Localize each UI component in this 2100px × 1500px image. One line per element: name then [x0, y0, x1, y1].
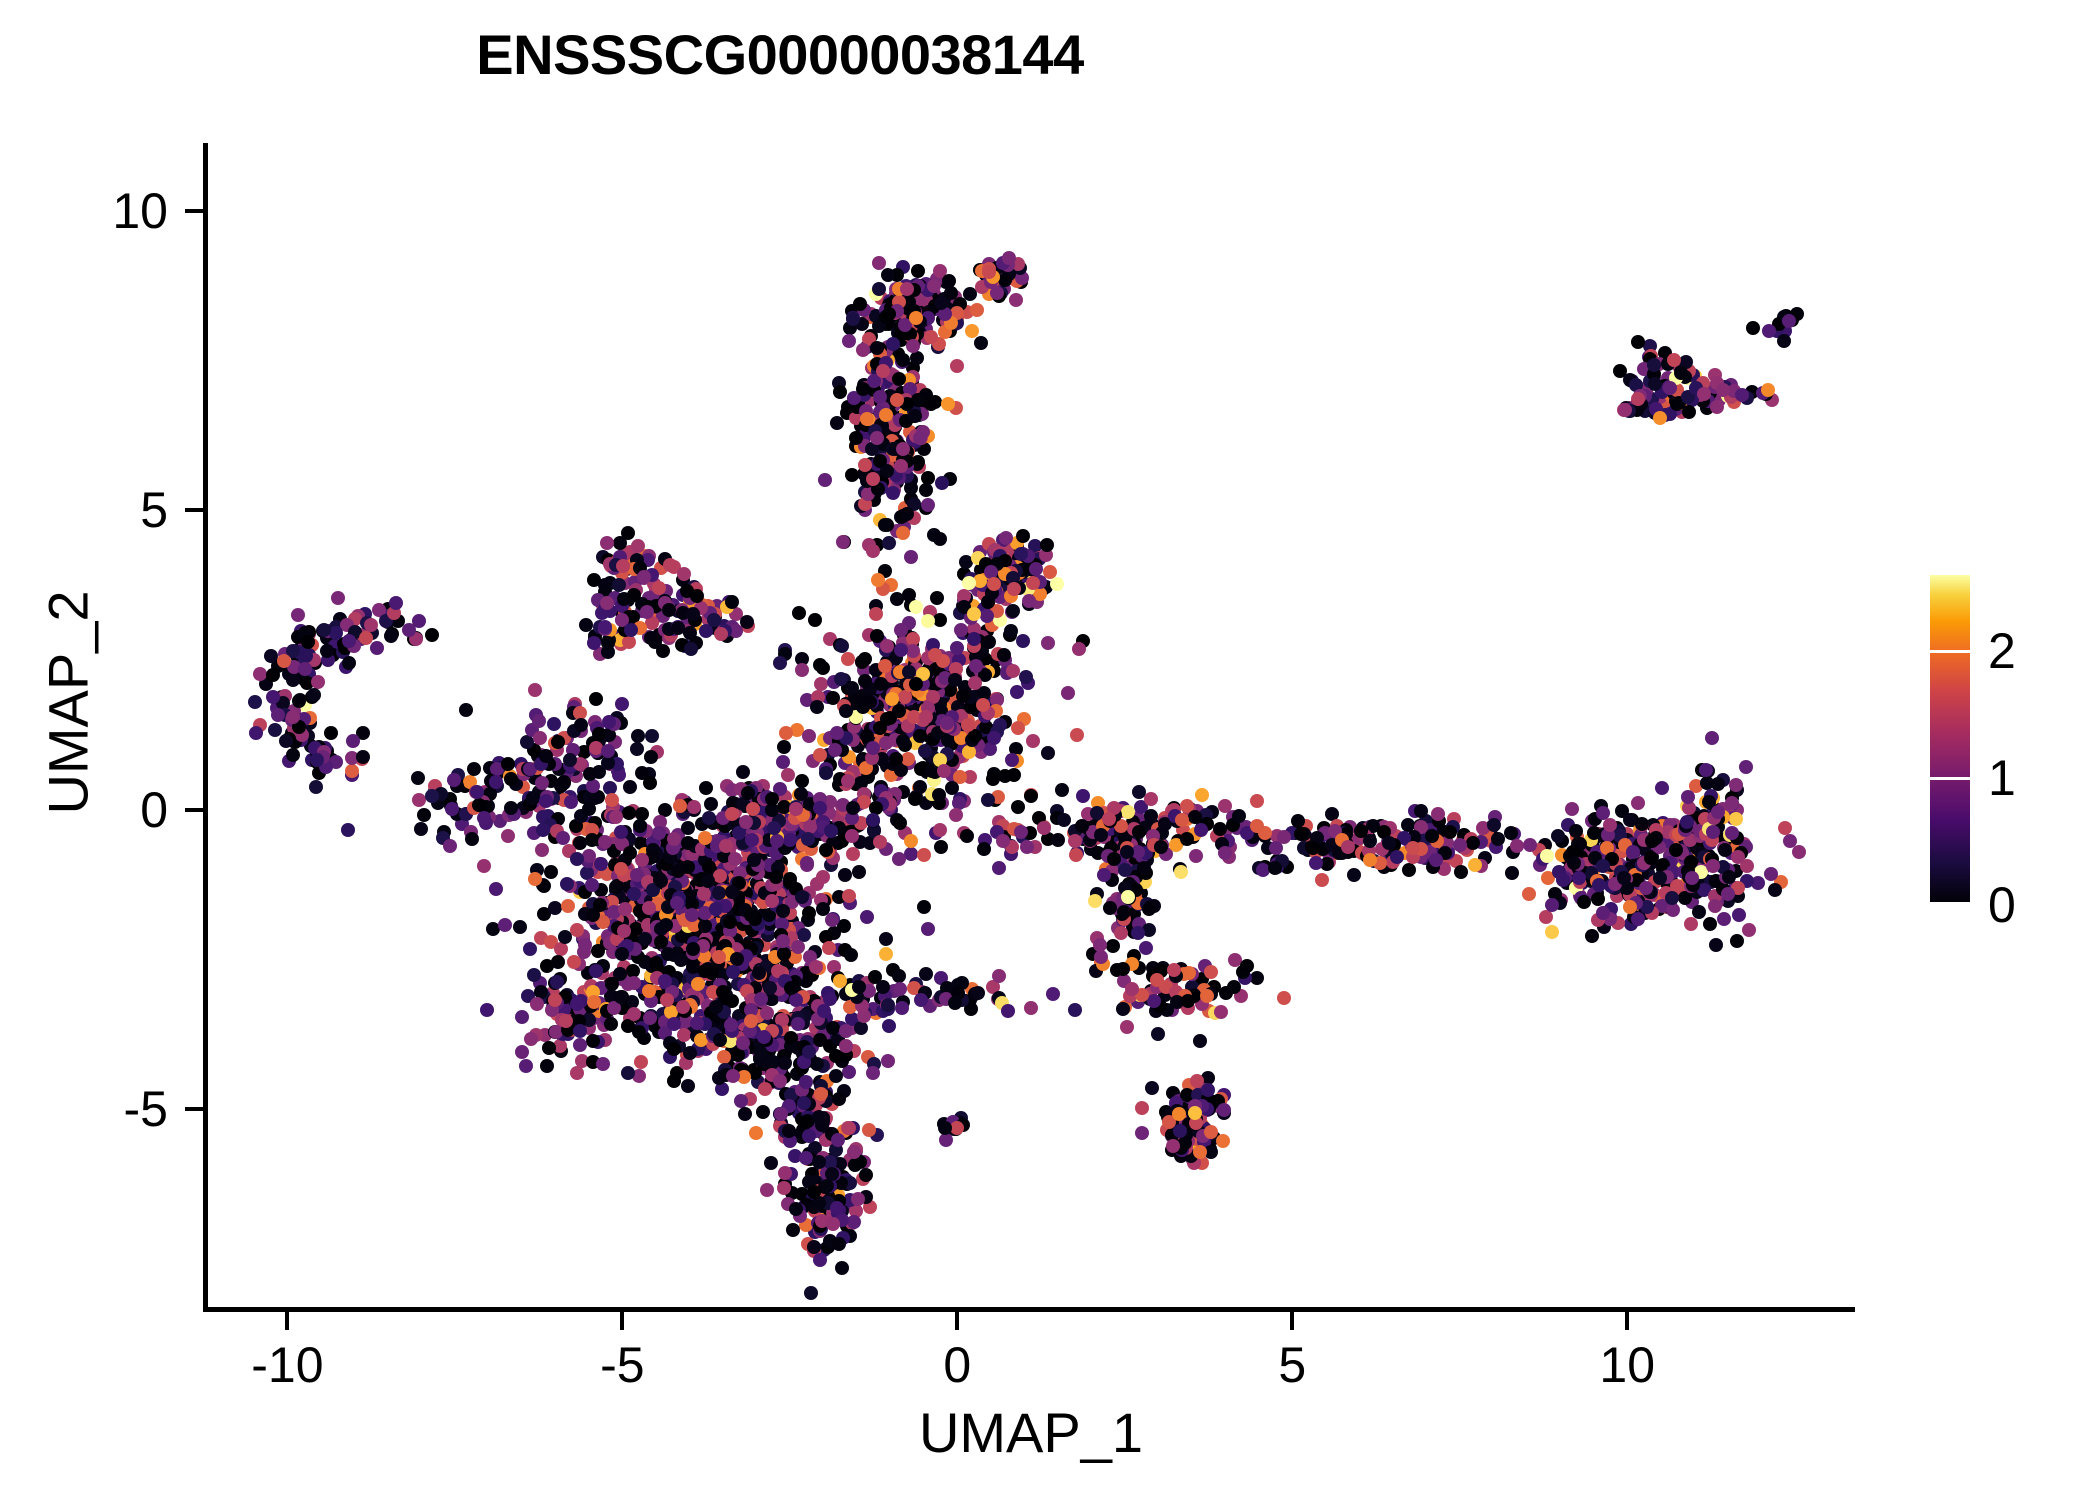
scatter-point — [561, 899, 575, 913]
scatter-point — [809, 960, 823, 974]
scatter-point — [1201, 1083, 1215, 1097]
scatter-point — [782, 1124, 796, 1138]
scatter-point — [681, 821, 695, 835]
colorbar-tick-mark — [1930, 902, 1970, 905]
scatter-point — [589, 964, 603, 978]
scatter-point — [1782, 314, 1796, 328]
scatter-point — [544, 865, 558, 879]
scatter-point — [838, 868, 852, 882]
scatter-point — [904, 834, 918, 848]
scatter-point — [813, 1033, 827, 1047]
scatter-point — [1216, 1134, 1230, 1148]
scatter-point — [1088, 894, 1102, 908]
scatter-point — [648, 635, 662, 649]
scatter-point — [1041, 746, 1055, 760]
scatter-point — [841, 774, 855, 788]
scatter-point — [542, 1041, 556, 1055]
scatter-point — [286, 748, 300, 762]
scatter-point — [268, 723, 282, 737]
scatter-point — [389, 596, 403, 610]
scatter-point — [950, 359, 964, 373]
scatter-point — [1131, 926, 1145, 940]
scatter-point — [551, 735, 565, 749]
scatter-point — [890, 592, 904, 606]
scatter-point — [643, 1011, 657, 1025]
scatter-point — [622, 635, 636, 649]
scatter-point — [896, 734, 910, 748]
scatter-point — [880, 464, 894, 478]
x-tick-mark — [620, 1312, 624, 1330]
scatter-point — [1135, 1126, 1149, 1140]
scatter-point — [253, 667, 267, 681]
scatter-point — [311, 675, 325, 689]
scatter-point — [1545, 925, 1559, 939]
scatter-point — [1214, 1005, 1228, 1019]
scatter-point — [1402, 863, 1416, 877]
scatter-point — [752, 966, 766, 980]
scatter-point — [1116, 962, 1130, 976]
scatter-point — [909, 677, 923, 691]
scatter-point — [1623, 900, 1637, 914]
scatter-point — [1117, 905, 1131, 919]
scatter-point — [1120, 1020, 1134, 1034]
scatter-point — [1014, 547, 1028, 561]
scatter-point — [586, 1034, 600, 1048]
page-title: ENSSSCG00000038144 — [0, 22, 1560, 87]
scatter-point — [1046, 987, 1060, 1001]
scatter-point — [1026, 734, 1040, 748]
scatter-point — [535, 843, 549, 857]
scatter-point — [1277, 991, 1291, 1005]
scatter-point — [1315, 873, 1329, 887]
colorbar-tick-label: 0 — [1988, 880, 2016, 930]
scatter-point — [1068, 834, 1082, 848]
scatter-point — [862, 1123, 876, 1137]
scatter-point — [1154, 840, 1168, 854]
scatter-point — [640, 605, 654, 619]
scatter-point — [559, 1014, 573, 1028]
scatter-point — [701, 874, 715, 888]
scatter-point — [949, 808, 963, 822]
scatter-point — [987, 577, 1001, 591]
scatter-point — [948, 996, 962, 1010]
scatter-point — [890, 393, 904, 407]
scatter-point — [615, 697, 629, 711]
scatter-point — [635, 853, 649, 867]
scatter-point — [635, 766, 649, 780]
scatter-point — [1667, 353, 1681, 367]
scatter-point — [817, 1004, 831, 1018]
scatter-point — [1716, 383, 1730, 397]
scatter-point — [933, 532, 947, 546]
scatter-point — [1631, 912, 1645, 926]
x-tick-label: -5 — [522, 1336, 722, 1394]
scatter-point — [882, 536, 896, 550]
scatter-point — [773, 1074, 787, 1088]
scatter-point — [914, 993, 928, 1007]
scatter-point — [1585, 929, 1599, 943]
scatter-point — [709, 1000, 723, 1014]
scatter-point — [892, 704, 906, 718]
scatter-point — [644, 750, 658, 764]
scatter-point — [1250, 819, 1264, 833]
scatter-point — [726, 1069, 740, 1083]
y-axis-line — [203, 143, 208, 1311]
scatter-point — [598, 620, 612, 634]
scatter-point — [638, 932, 652, 946]
scatter-point — [587, 995, 601, 1009]
scatter-point — [856, 382, 870, 396]
scatter-point — [1778, 821, 1792, 835]
scatter-point — [1007, 582, 1021, 596]
x-axis-line — [203, 1307, 1855, 1312]
scatter-point — [866, 1066, 880, 1080]
scatter-point — [860, 910, 874, 924]
scatter-point — [631, 729, 645, 743]
scatter-point — [740, 615, 754, 629]
y-tick-mark — [185, 209, 203, 213]
scatter-point — [645, 729, 659, 743]
scatter-point — [684, 642, 698, 656]
scatter-point — [412, 793, 426, 807]
y-axis-label: UMAP_2 — [36, 353, 101, 1053]
scatter-point — [699, 781, 713, 795]
scatter-point — [713, 869, 727, 883]
scatter-point — [1731, 850, 1745, 864]
scatter-point — [582, 802, 596, 816]
scatter-point — [662, 603, 676, 617]
scatter-point — [1681, 790, 1695, 804]
scatter-point — [910, 351, 924, 365]
scatter-point — [1635, 817, 1649, 831]
scatter-point — [830, 726, 844, 740]
scatter-point — [841, 652, 855, 666]
scatter-point — [683, 1046, 697, 1060]
scatter-point — [872, 282, 886, 296]
scatter-point — [1204, 965, 1218, 979]
scatter-point — [564, 795, 578, 809]
scatter-point — [846, 801, 860, 815]
scatter-point — [802, 906, 816, 920]
scatter-point — [839, 704, 853, 718]
scatter-point — [1024, 1001, 1038, 1015]
scatter-point — [1050, 577, 1064, 591]
scatter-point — [836, 535, 850, 549]
scatter-point — [1618, 403, 1632, 417]
scatter-point — [291, 608, 305, 622]
colorbar-tick-label: 2 — [1988, 626, 2016, 676]
scatter-point — [777, 1181, 791, 1195]
scatter-point — [870, 341, 884, 355]
scatter-point — [1024, 789, 1038, 803]
scatter-point — [1040, 538, 1054, 552]
scatter-point — [467, 762, 481, 776]
scatter-point — [520, 735, 534, 749]
scatter-point — [601, 756, 615, 770]
scatter-point — [828, 743, 842, 757]
scatter-point — [1277, 830, 1291, 844]
scatter-point — [1194, 823, 1208, 837]
x-tick-label: 0 — [857, 1336, 1057, 1394]
scatter-point — [852, 980, 866, 994]
scatter-point — [826, 1217, 840, 1231]
scatter-point — [760, 1006, 774, 1020]
scatter-point — [324, 726, 338, 740]
scatter-point — [614, 825, 628, 839]
scatter-point — [515, 1045, 529, 1059]
scatter-point — [459, 703, 473, 717]
scatter-point — [885, 692, 899, 706]
scatter-point — [832, 1092, 846, 1106]
scatter-point — [547, 717, 561, 731]
scatter-point — [794, 787, 808, 801]
scatter-point — [477, 859, 491, 873]
x-axis-label: UMAP_1 — [207, 1400, 1855, 1465]
scatter-point — [504, 772, 518, 786]
scatter-point — [1666, 903, 1680, 917]
colorbar-legend: 012 — [1930, 575, 2090, 915]
scatter-point — [835, 1261, 849, 1275]
scatter-point — [909, 600, 923, 614]
scatter-point — [1406, 841, 1420, 855]
scatter-point — [1016, 529, 1030, 543]
scatter-point — [892, 852, 906, 866]
x-tick-label: 10 — [1527, 1336, 1727, 1394]
scatter-point — [1213, 822, 1227, 836]
scatter-point — [649, 956, 663, 970]
scatter-point — [866, 813, 880, 827]
scatter-point — [921, 922, 935, 936]
scatter-point — [1009, 293, 1023, 307]
scatter-point — [1545, 898, 1559, 912]
scatter-point — [1135, 1101, 1149, 1115]
scatter-point — [1268, 861, 1282, 875]
scatter-point — [830, 416, 844, 430]
scatter-point — [819, 766, 833, 780]
scatter-point — [895, 1001, 909, 1015]
scatter-point — [1151, 1027, 1165, 1041]
scatter-point — [342, 656, 356, 670]
scatter-point — [614, 862, 628, 876]
scatter-point — [498, 918, 512, 932]
scatter-point — [859, 1168, 873, 1182]
scatter-point — [924, 397, 938, 411]
scatter-point — [777, 740, 791, 754]
scatter-point — [777, 947, 791, 961]
scatter-point — [1647, 358, 1661, 372]
scatter-point — [556, 831, 570, 845]
x-tick-mark — [955, 1312, 959, 1330]
scatter-point — [1061, 686, 1075, 700]
scatter-point — [950, 1121, 964, 1135]
scatter-point — [744, 908, 758, 922]
scatter-point — [533, 731, 547, 745]
scatter-point — [1491, 832, 1505, 846]
scatter-point — [612, 578, 626, 592]
scatter-point — [845, 468, 859, 482]
scatter-point — [592, 727, 606, 741]
scatter-point — [795, 890, 809, 904]
scatter-point — [690, 1016, 704, 1030]
scatter-point — [826, 1021, 840, 1035]
scatter-point — [1145, 1081, 1159, 1095]
scatter-point — [1026, 576, 1040, 590]
scatter-point — [1106, 939, 1120, 953]
scatter-point — [1068, 1003, 1082, 1017]
scatter-point — [587, 573, 601, 587]
scatter-point — [445, 802, 459, 816]
scatter-point — [1746, 321, 1760, 335]
scatter-point — [776, 904, 790, 918]
scatter-point — [919, 967, 933, 981]
scatter-point — [723, 915, 737, 929]
scatter-point — [833, 385, 847, 399]
scatter-point — [623, 846, 637, 860]
scatter-point — [810, 700, 824, 714]
scatter-point — [1004, 624, 1018, 638]
scatter-point — [370, 641, 384, 655]
scatter-point — [935, 476, 949, 490]
scatter-point — [1029, 562, 1043, 576]
scatter-point — [825, 1167, 839, 1181]
scatter-point — [987, 731, 1001, 745]
y-tick-label: 10 — [0, 186, 168, 236]
scatter-point — [320, 644, 334, 658]
scatter-point — [967, 632, 981, 646]
scatter-point — [670, 896, 684, 910]
scatter-point — [1204, 1125, 1218, 1139]
scatter-point — [567, 955, 581, 969]
scatter-point — [1069, 848, 1083, 862]
scatter-point — [616, 559, 630, 573]
scatter-point — [852, 865, 866, 879]
scatter-point — [299, 649, 313, 663]
scatter-point — [879, 408, 893, 422]
scatter-point — [301, 635, 315, 649]
scatter-point — [739, 815, 753, 829]
scatter-point — [879, 932, 893, 946]
scatter-point — [1551, 829, 1565, 843]
scatter-point — [550, 975, 564, 989]
scatter-point — [554, 942, 568, 956]
scatter-point — [1762, 324, 1776, 338]
scatter-point — [600, 536, 614, 550]
y-tick-mark — [185, 1107, 203, 1111]
scatter-point — [513, 920, 527, 934]
scatter-point — [765, 792, 779, 806]
scatter-point — [795, 663, 809, 677]
scatter-point — [551, 955, 565, 969]
scatter-point — [866, 544, 880, 558]
scatter-point — [586, 779, 600, 793]
scatter-point — [1717, 912, 1731, 926]
scatter-point — [342, 634, 356, 648]
scatter-point — [605, 977, 619, 991]
scatter-point — [1764, 867, 1778, 881]
scatter-point — [977, 842, 991, 856]
scatter-point — [1250, 794, 1264, 808]
scatter-point — [1653, 411, 1667, 425]
scatter-point — [1076, 789, 1090, 803]
scatter-point — [712, 950, 726, 964]
scatter-point — [894, 623, 908, 637]
scatter-point — [893, 982, 907, 996]
scatter-point — [591, 944, 605, 958]
scatter-point — [613, 536, 627, 550]
scatter-point — [986, 772, 1000, 786]
scatter-point — [698, 919, 712, 933]
scatter-point — [851, 1192, 865, 1206]
scatter-point — [886, 337, 900, 351]
scatter-point — [833, 974, 847, 988]
scatter-point — [960, 829, 974, 843]
scatter-point — [781, 768, 795, 782]
scatter-point — [879, 947, 893, 961]
scatter-point — [1144, 792, 1158, 806]
scatter-point — [1539, 910, 1553, 924]
scatter-point — [266, 668, 280, 682]
scatter-point — [1006, 664, 1020, 678]
scatter-point — [792, 606, 806, 620]
scatter-point — [1007, 768, 1021, 782]
scatter-point — [570, 852, 584, 866]
scatter-point — [854, 1021, 868, 1035]
scatter-point — [1730, 934, 1744, 948]
scatter-point — [681, 836, 695, 850]
scatter-point — [1443, 825, 1457, 839]
scatter-point — [1200, 989, 1214, 1003]
scatter-point — [681, 1079, 695, 1093]
scatter-point — [1390, 850, 1404, 864]
scatter-point — [596, 1057, 610, 1071]
scatter-point — [528, 683, 542, 697]
scatter-point — [876, 364, 890, 378]
scatter-point — [523, 942, 537, 956]
scatter-points-layer — [207, 145, 1855, 1307]
scatter-point — [1363, 853, 1377, 867]
scatter-point — [633, 819, 647, 833]
scatter-point — [465, 832, 479, 846]
scatter-point — [831, 1133, 845, 1147]
x-tick-mark — [1290, 1312, 1294, 1330]
scatter-point — [856, 343, 870, 357]
scatter-point — [1783, 834, 1797, 848]
scatter-point — [539, 794, 553, 808]
scatter-point — [642, 984, 656, 998]
scatter-point — [528, 872, 542, 886]
scatter-point — [1016, 634, 1030, 648]
scatter-point — [540, 1059, 554, 1073]
scatter-point — [309, 780, 323, 794]
scatter-point — [271, 708, 285, 722]
scatter-point — [1567, 856, 1581, 870]
scatter-point — [331, 591, 345, 605]
scatter-point — [615, 947, 629, 961]
scatter-point — [477, 811, 491, 825]
scatter-point — [618, 902, 632, 916]
scatter-point — [1617, 871, 1631, 885]
scatter-point — [713, 1033, 727, 1047]
y-tick-mark — [185, 808, 203, 812]
scatter-point — [1189, 849, 1203, 863]
scatter-point — [637, 570, 651, 584]
scatter-point — [1037, 821, 1051, 835]
scatter-point — [1761, 383, 1775, 397]
scatter-point — [789, 1202, 803, 1216]
scatter-point — [756, 1105, 770, 1119]
scatter-point — [804, 1286, 818, 1300]
scatter-point — [1041, 636, 1055, 650]
